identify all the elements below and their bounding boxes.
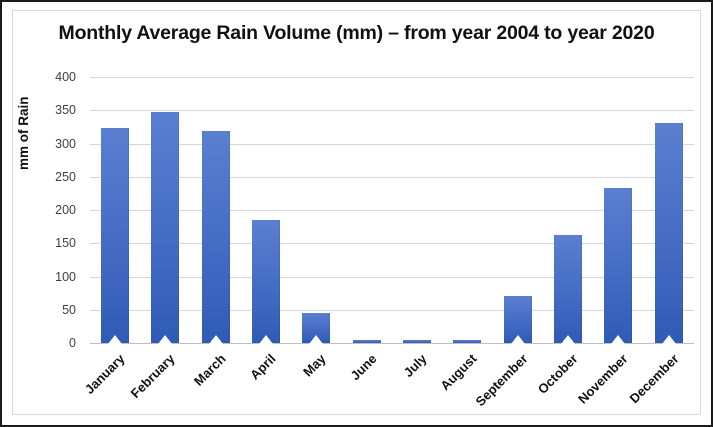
y-axis-tick-label: 150 — [55, 236, 76, 250]
y-axis-tick-label: 400 — [55, 70, 76, 84]
y-axis-tick-label: 300 — [55, 137, 76, 151]
bar[interactable] — [302, 313, 330, 343]
x-axis-tick-label-text: December — [626, 351, 681, 406]
x-axis-tick-labels: JanuaryFebruaryMarchAprilMayJuneJulyAugu… — [90, 343, 694, 423]
x-axis-tick-label-text: July — [401, 351, 430, 380]
y-axis-tick-label: 250 — [55, 170, 76, 184]
bar[interactable] — [554, 235, 582, 343]
y-axis-tick-label: 200 — [55, 203, 76, 217]
bar[interactable] — [504, 296, 532, 343]
bar[interactable] — [655, 123, 683, 343]
x-axis-tick-label-text: February — [128, 351, 178, 401]
x-axis-tick-label-text: September — [472, 351, 530, 409]
y-axis-tick-labels: 050100150200250300350400 — [2, 77, 84, 343]
bar[interactable] — [151, 112, 179, 343]
x-axis-tick-label-text: August — [438, 351, 480, 393]
bar[interactable] — [202, 131, 230, 343]
x-axis-tick-label-text: March — [191, 351, 229, 389]
y-axis-tick-label: 350 — [55, 103, 76, 117]
x-axis-tick-label-text: June — [347, 351, 379, 383]
bar[interactable] — [101, 128, 129, 343]
x-axis-tick-label-text: April — [247, 351, 279, 383]
gridline — [90, 77, 694, 78]
x-axis-tick-label-text: October — [535, 351, 581, 397]
y-axis-tick-label: 0 — [69, 336, 76, 350]
gridline — [90, 144, 694, 145]
x-axis-tick-label-text: November — [575, 351, 631, 407]
chart-page: Monthly Average Rain Volume (mm) – from … — [0, 0, 713, 427]
gridline — [90, 110, 694, 111]
y-axis-tick-label: 50 — [62, 303, 76, 317]
chart-title: Monthly Average Rain Volume (mm) – from … — [2, 22, 711, 45]
y-axis-tick-label: 100 — [55, 270, 76, 284]
bar[interactable] — [604, 188, 632, 343]
bar[interactable] — [252, 220, 280, 343]
x-axis-tick-label-text: May — [300, 351, 328, 379]
plot-area — [90, 77, 694, 343]
gridline — [90, 177, 694, 178]
